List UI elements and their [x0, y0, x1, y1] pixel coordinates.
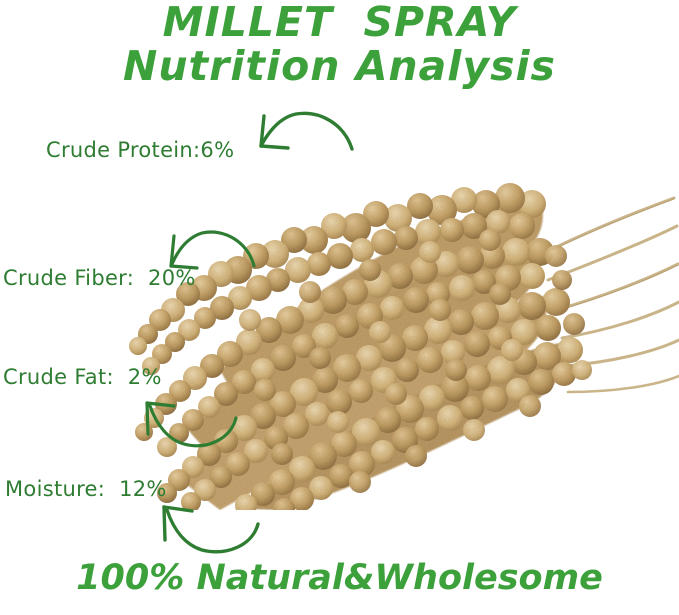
curved-arrow-icon-fat — [136, 392, 242, 458]
curved-arrow-icon-moisture — [152, 496, 264, 564]
nutrition-label-crude-fat: Crude Fat: 2% — [3, 365, 162, 389]
tagline: 100% Natural&Wholesome — [0, 558, 679, 598]
title-line-secondary: Nutrition Analysis — [0, 46, 679, 88]
infographic-canvas: MILLET SPRAY Nutrition Analysis — [0, 0, 679, 615]
title-line-primary: MILLET SPRAY — [0, 2, 679, 44]
page-title: MILLET SPRAY Nutrition Analysis — [0, 2, 679, 88]
curved-arrow-icon-protein — [248, 100, 358, 170]
nutrition-label-crude-protein: Crude Protein:6% — [46, 138, 234, 162]
nutrition-label-moisture: Moisture: 12% — [5, 477, 167, 501]
curved-arrow-icon-fiber — [160, 222, 260, 286]
